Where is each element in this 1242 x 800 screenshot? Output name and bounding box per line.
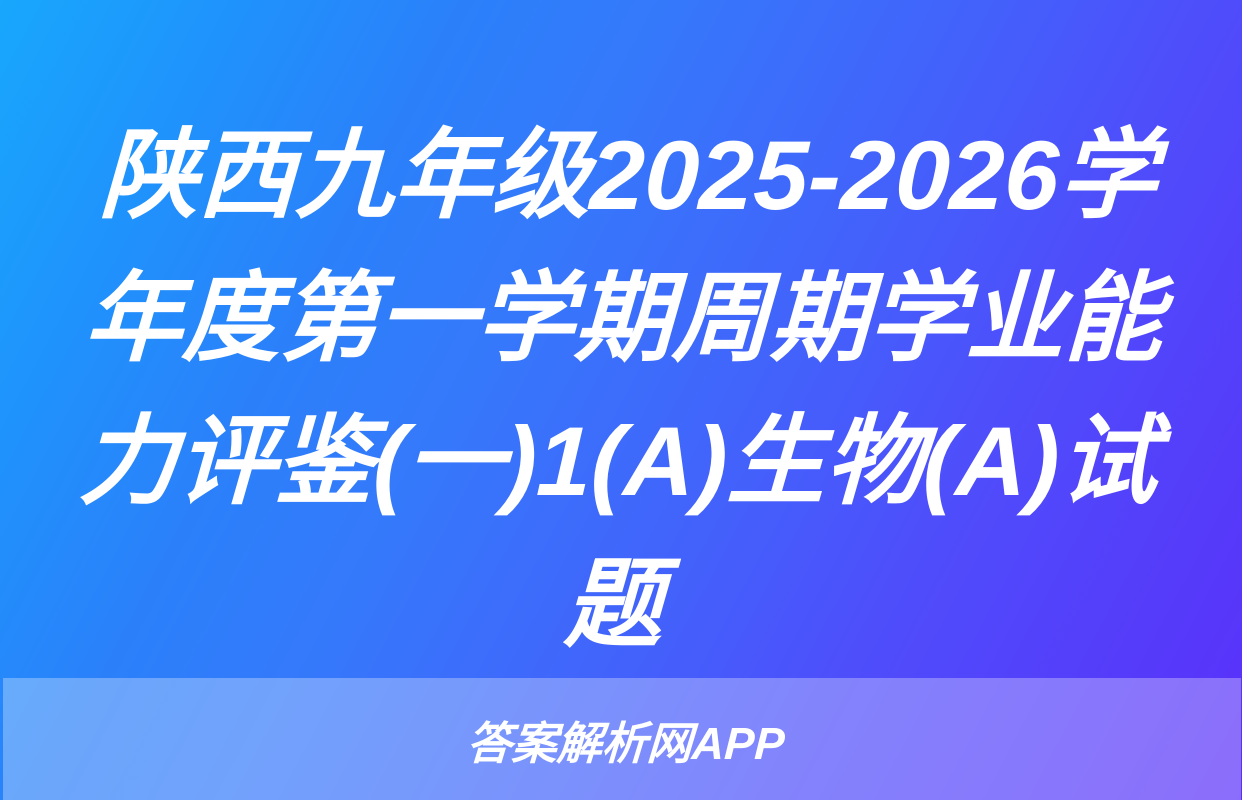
page-title: 陕西九年级2025-2026学年度第一学期周期学业能力评鉴(一)1(A)生物(A… — [50, 104, 1192, 676]
footer-watermark-band: 答案解析网APP — [3, 678, 1241, 800]
footer-brand-label: 答案解析网APP — [0, 678, 1242, 800]
poster-canvas: 陕西九年级2025-2026学年度第一学期周期学业能力评鉴(一)1(A)生物(A… — [0, 0, 1242, 800]
